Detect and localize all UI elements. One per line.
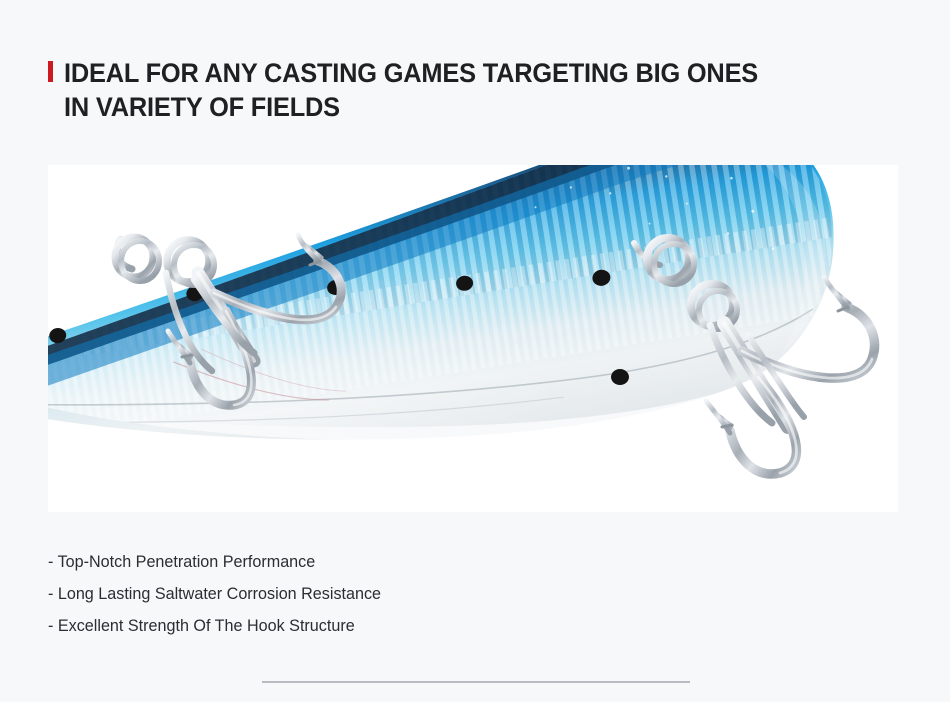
section-divider <box>262 681 690 683</box>
page-heading: IDEAL FOR ANY CASTING GAMES TARGETING BI… <box>48 56 908 124</box>
product-image-panel <box>48 165 898 512</box>
feature-item: - Excellent Strength Of The Hook Structu… <box>48 610 618 642</box>
lure-photo <box>48 165 898 512</box>
feature-list: - Top-Notch Penetration Performance - Lo… <box>48 546 648 642</box>
feature-item: - Top-Notch Penetration Performance <box>48 546 618 578</box>
lure-spot-rear <box>611 369 629 385</box>
page-title: IDEAL FOR ANY CASTING GAMES TARGETING BI… <box>64 56 758 124</box>
red-accent-bar <box>48 61 53 82</box>
feature-item: - Long Lasting Saltwater Corrosion Resis… <box>48 578 618 610</box>
fishing-lure-illustration <box>48 165 898 512</box>
